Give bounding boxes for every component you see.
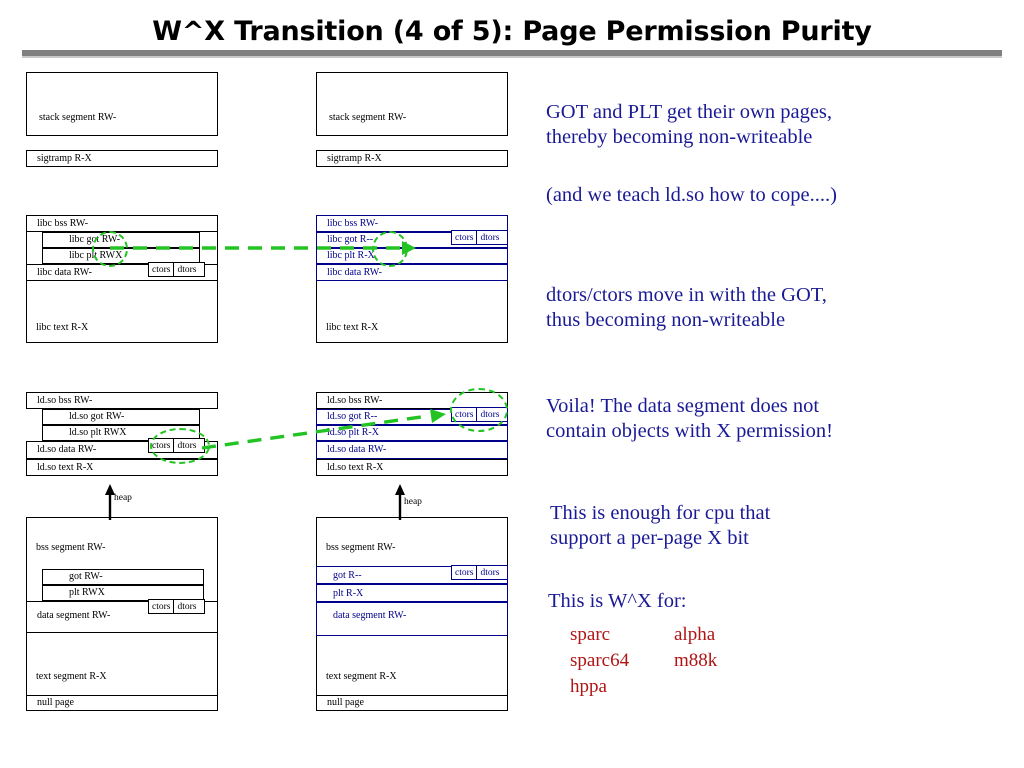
left-libc-bss-label: libc bss RW- [37,219,88,229]
left-main-text-label: text segment R-X [36,671,107,682]
note-wx-for: This is W^X for: [548,589,978,614]
left-sigtramp-segment: sigtramp R-X [26,150,218,167]
right-heap-arrow-icon [390,484,410,520]
right-main-null-page: null page [316,695,508,711]
right-ldso-ctors-dtors: ctors dtors [451,407,508,422]
left-libc-got-label: libc got RW- [69,235,120,245]
left-main-data-label: data segment RW- [37,611,110,621]
left-libc-ctors-dtors: ctors dtors [148,262,205,277]
left-main-got: got RW- [42,569,204,585]
right-ldso-text: ld.so text R-X [316,459,508,476]
left-sigtramp-label: sigtramp R-X [37,154,92,164]
arch-sparc: sparc [570,622,674,648]
right-sigtramp-segment: sigtramp R-X [316,150,508,167]
left-ldso-text-label: ld.so text R-X [37,463,93,473]
left-ldso-got-label: ld.so got RW- [69,412,124,422]
right-ldso-got-label: ld.so got R-- [327,412,377,422]
right-main-ctors-label: ctors [452,566,476,579]
note-per-page-x-bit: This is enough for cpu that support a pe… [550,501,980,551]
right-main-ctors-dtors: ctors dtors [451,565,508,580]
right-ldso-bss-label: ld.so bss RW- [327,396,382,406]
left-libc-dtors-label: dtors [173,263,199,276]
right-libc-data: libc data RW- [316,264,508,281]
arch-row: sparc64m88k [570,648,717,674]
slide-canvas: W^X Transition (4 of 5): Page Permission… [0,0,1024,768]
left-ldso-text: ld.so text R-X [26,459,218,476]
right-ldso-text-label: ld.so text R-X [327,463,383,473]
arch-row: sparcalpha [570,622,717,648]
left-main-ctors-dtors: ctors dtors [148,599,205,614]
right-ldso-plt: ld.so plt R-X [316,425,508,441]
left-libc-got: libc got RW- [42,232,200,248]
left-libc-text-label-wrap: libc text R-X [36,322,88,333]
left-libc-ctors-label: ctors [149,263,173,276]
right-libc-ctors-dtors: ctors dtors [451,230,508,245]
left-libc-text-label: libc text R-X [36,322,88,333]
left-ldso-bss-label: ld.so bss RW- [37,396,92,406]
left-libc-data-label: libc data RW- [37,268,92,278]
note-ldso-cope: (and we teach ld.so how to cope....) [546,183,976,208]
title-divider [22,50,1002,58]
left-ldso-dtors-label: dtors [173,439,199,452]
left-stack-segment: stack segment RW- [26,72,218,136]
right-libc-dtors-label: dtors [476,231,502,244]
note-dtors-ctors-move: dtors/ctors move in with the GOT, thus b… [546,283,976,333]
right-main-data-label: data segment RW- [333,611,406,621]
arch-m88k: m88k [674,648,717,674]
right-main-plt: plt R-X [316,584,508,602]
arch-row: hppa [570,674,717,700]
right-ldso-ctors-label: ctors [452,408,476,421]
right-main-plt-label: plt R-X [333,589,363,599]
right-ldso-dtors-label: dtors [476,408,502,421]
page-title: W^X Transition (4 of 5): Page Permission… [0,16,1024,47]
left-main-ctors-label: ctors [149,600,173,613]
architecture-list: sparcalpha sparc64m88k hppa [570,622,717,700]
right-stack-label: stack segment RW- [329,113,406,123]
right-libc-ctors-label: ctors [452,231,476,244]
right-ldso-data: ld.so data RW- [316,441,508,459]
right-ldso-plt-label: ld.so plt R-X [327,428,379,438]
left-main-got-label: got RW- [69,572,103,582]
left-ldso-got: ld.so got RW- [42,409,200,425]
right-libc-plt: libc plt R-X [316,248,508,264]
note-voila-data-segment: Voila! The data segment does not contain… [546,394,976,444]
right-ldso-data-label: ld.so data RW- [327,445,386,455]
right-main-bss-label: bss segment RW- [326,542,395,553]
left-libc-plt-label: libc plt RWX [69,251,122,261]
left-libc-bss: libc bss RW- [26,215,218,232]
left-main-null-page: null page [26,695,218,711]
arch-sparc64: sparc64 [570,648,674,674]
left-heap-arrow-icon [100,484,120,520]
right-main-text-label-wrap: text segment R-X [326,671,397,682]
left-main-bss-label: bss segment RW- [36,542,105,553]
right-libc-got-label: libc got R-- [327,235,373,245]
left-main-text-label-wrap: text segment R-X [36,671,107,682]
right-libc-text-label: libc text R-X [326,322,378,333]
right-main-text-label: text segment R-X [326,671,397,682]
left-main-bss-label-wrap: bss segment RW- [36,542,105,553]
right-libc-data-label: libc data RW- [327,268,382,278]
right-main-null-label: null page [327,698,364,708]
right-libc-plt-label: libc plt R-X [327,251,375,261]
right-stack-segment: stack segment RW- [316,72,508,136]
left-ldso-plt-label: ld.so plt RWX [69,428,127,438]
left-ldso-data-label: ld.so data RW- [37,445,96,455]
left-main-null-label: null page [37,698,74,708]
arch-alpha: alpha [674,622,715,648]
note-got-plt-own-pages: GOT and PLT get their own pages, thereby… [546,100,976,150]
right-sigtramp-label: sigtramp R-X [327,154,382,164]
left-stack-label: stack segment RW- [39,113,116,123]
left-main-plt-label: plt RWX [69,588,105,598]
right-libc-bss-label: libc bss RW- [327,219,378,229]
right-main-data: data segment RW- [316,602,508,636]
left-ldso-ctors-label: ctors [149,439,173,452]
right-main-bss-label-wrap: bss segment RW- [326,542,395,553]
left-main-dtors-label: dtors [173,600,199,613]
left-ldso-ctors-dtors: ctors dtors [148,438,205,453]
right-main-dtors-label: dtors [476,566,502,579]
right-libc-text-label-wrap: libc text R-X [326,322,378,333]
arch-hppa: hppa [570,674,674,700]
right-main-got-label: got R-- [333,571,362,581]
left-ldso-bss: ld.so bss RW- [26,392,218,409]
